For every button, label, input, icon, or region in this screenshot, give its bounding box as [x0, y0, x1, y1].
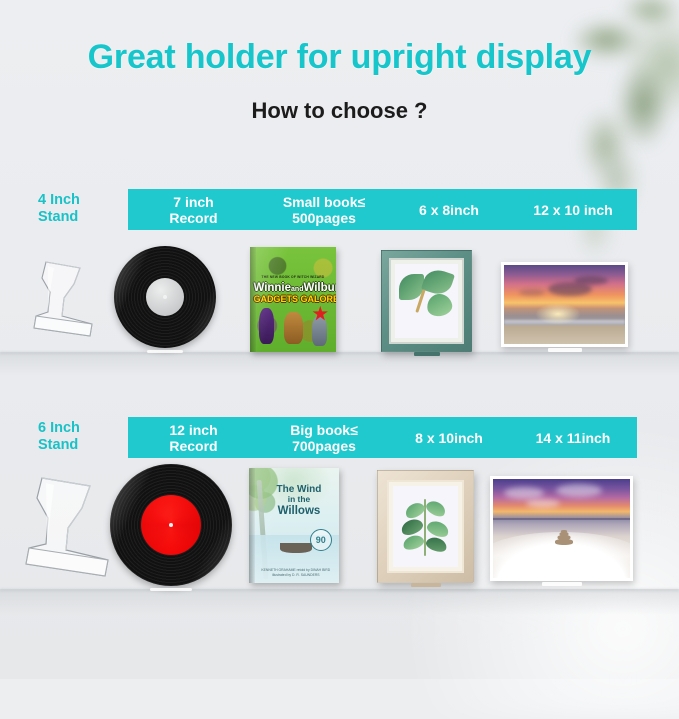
spec-cell-frame-row1: 6 x 8inch [389, 202, 509, 218]
spec-cell-book-row2: Big book≤ 700pages [259, 422, 389, 454]
cloud-icon [574, 276, 608, 285]
page-title: Great holder for upright display [0, 38, 679, 77]
book-gloss [249, 468, 339, 583]
picture-frame [377, 470, 474, 583]
horizon-line [493, 518, 630, 520]
spec-cell-frame-row2: 8 x 10inch [389, 430, 509, 446]
leaf-icon [403, 500, 426, 521]
stand-size-label-row2: 6 Inch Stand [38, 420, 80, 454]
photo-print [501, 262, 628, 347]
book-winnie-and-wilbur: THE NEW BOOK OF WITCH WIZARD WinnieandWi… [250, 247, 336, 352]
spec-cell-record-row1: 7 inch Record [128, 194, 259, 226]
spec-cell-photo-row2: 14 x 11inch [509, 430, 637, 446]
leaf-icon [425, 518, 451, 539]
photo-stand-foot [548, 348, 582, 352]
artwork-caption [401, 328, 402, 333]
frame-artwork [395, 264, 458, 338]
acrylic-stand-4-inch [18, 254, 104, 349]
photo-print [490, 476, 633, 581]
leaf-icon [399, 516, 425, 537]
cloud-icon [526, 499, 560, 508]
spec-bar-row2: 12 inch Record Big book≤ 700pages 8 x 10… [128, 417, 637, 458]
spec-cell-photo-row1: 12 x 10 inch [509, 202, 637, 218]
picture-frame-8x10-cream [377, 470, 474, 583]
book-cover: The Wind in the Willows 90 KENNETH GRAHA… [249, 468, 339, 583]
monstera-leaf-icon [421, 266, 455, 297]
record-stand-edge [147, 350, 183, 353]
vinyl-record-12-inch [110, 464, 232, 586]
photo-print-14x11-seascape-sunset [490, 476, 633, 581]
spec-cell-record-row2: 12 inch Record [128, 422, 259, 454]
picture-frame [381, 250, 472, 352]
spec-bar-row1: 7 inch Record Small book≤ 500pages 6 x 8… [128, 189, 637, 230]
frame-stand-foot [414, 352, 440, 356]
vinyl-record-icon [110, 464, 232, 586]
page-subtitle: How to choose ? [0, 98, 679, 124]
acrylic-stand-6-inch [12, 472, 118, 592]
record-label [146, 278, 184, 316]
frame-stand-foot [411, 583, 441, 587]
leaf-icon [402, 533, 426, 552]
stand-size-label-row1: 4 Inch Stand [38, 192, 80, 226]
leaf-icon [424, 498, 447, 519]
book-gloss [250, 247, 336, 352]
record-stand-edge [150, 588, 192, 591]
frame-artwork [393, 486, 458, 567]
stacked-stones-icon [555, 527, 573, 545]
cloud-icon [519, 289, 545, 296]
record-label [141, 495, 201, 555]
vinyl-record-7-inch [114, 246, 216, 348]
vinyl-record-icon [114, 246, 216, 348]
cloud-icon [556, 484, 602, 497]
acrylic-stand-icon [18, 254, 104, 344]
beach-band [504, 325, 625, 344]
spec-cell-book-row1: Small book≤ 500pages [259, 194, 389, 226]
monstera-leaf-icon [425, 292, 454, 318]
acrylic-stand-icon [12, 472, 118, 587]
photo-print-12x10-beach-sunset [501, 262, 628, 347]
book-cover: THE NEW BOOK OF WITCH WIZARD WinnieandWi… [250, 247, 336, 352]
picture-frame-6x8-teal [381, 250, 472, 352]
cloud-icon [504, 487, 544, 499]
leaf-icon [424, 535, 448, 554]
book-the-wind-in-the-willows: The Wind in the Willows 90 KENNETH GRAHA… [249, 468, 339, 583]
photo-stand-foot [542, 582, 582, 586]
